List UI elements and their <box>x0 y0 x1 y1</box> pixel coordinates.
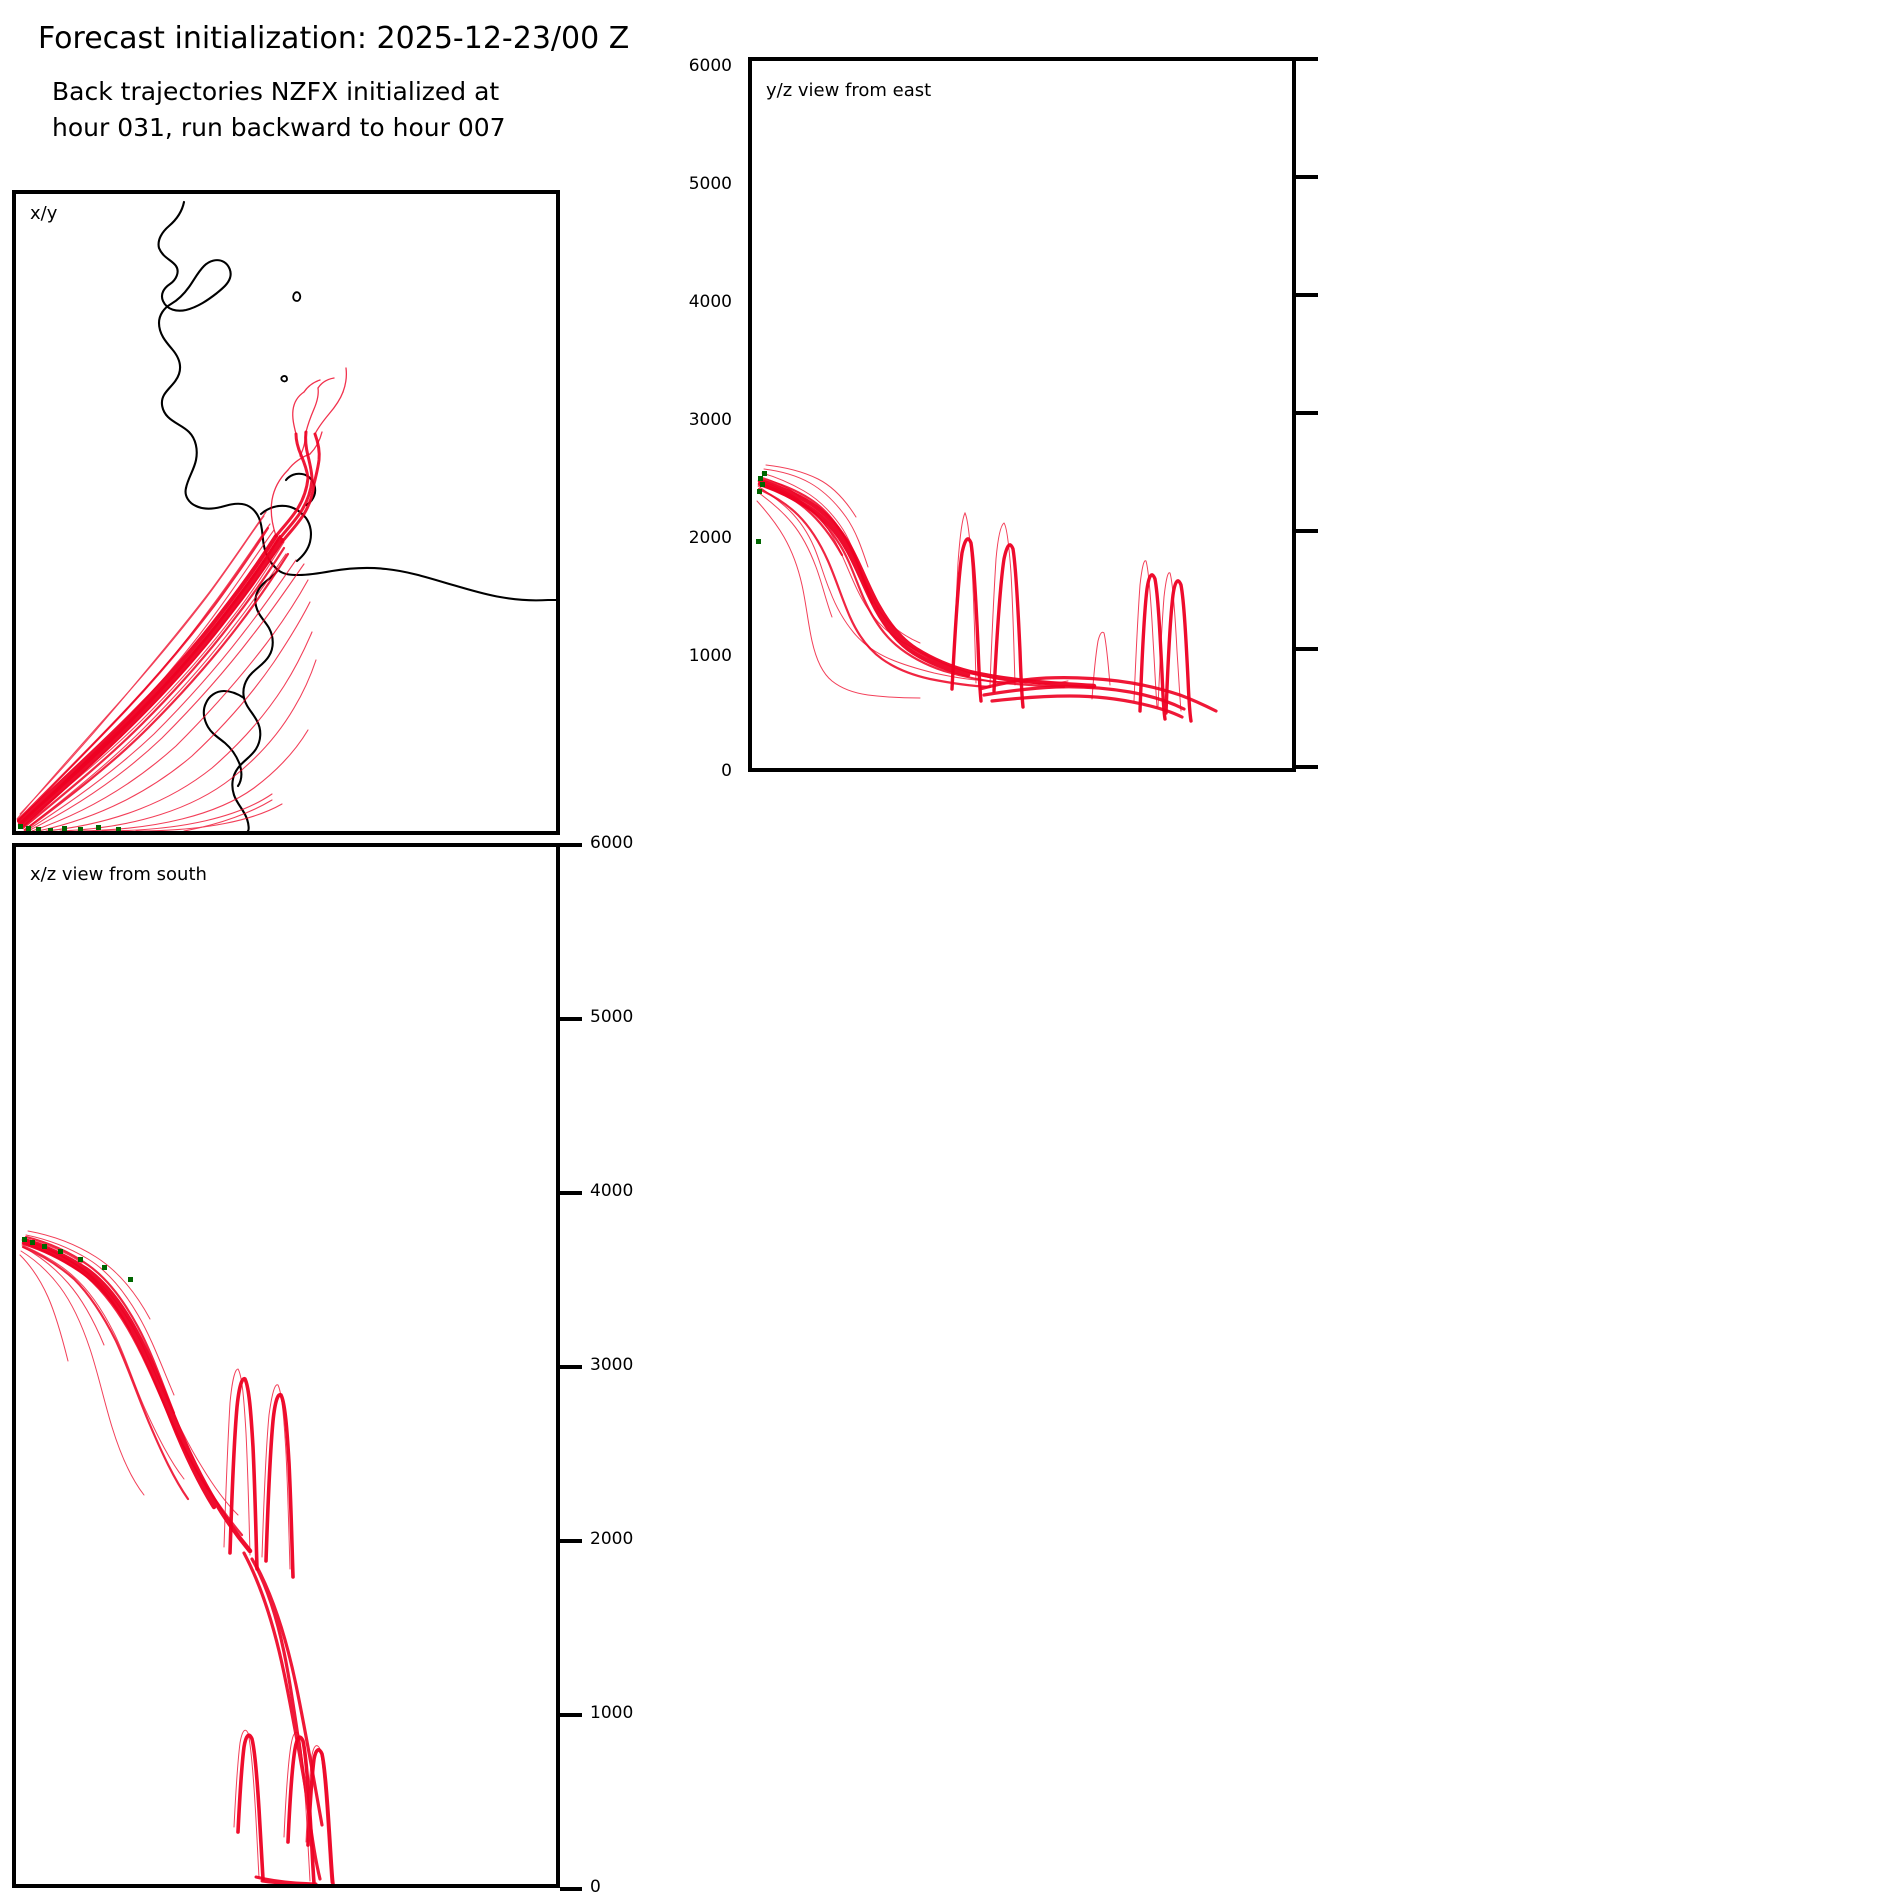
figure-root: Forecast initialization: 2025-12-23/00 Z… <box>0 0 1900 1900</box>
xz-tick-1000: 1000 <box>590 1705 633 1722</box>
panel-xz-label: x/z view from south <box>30 865 207 885</box>
yz-tickmark-6000 <box>1296 57 1318 61</box>
xz-axis: 6000 5000 4000 3000 2000 1000 0 <box>560 843 650 1888</box>
page-subtitle: Back trajectories NZFX initialized at ho… <box>52 74 506 146</box>
yz-tick-4000: 4000 <box>689 294 732 311</box>
yz-tickmark-1000 <box>1296 647 1318 651</box>
panel-xy-plot <box>16 194 556 831</box>
panel-yz[interactable]: y/z view from east <box>748 57 1296 772</box>
xz-tickmark-3000 <box>560 1365 582 1369</box>
yz-tick-2000: 2000 <box>689 530 732 547</box>
panel-yz-plot <box>752 61 1292 768</box>
xz-tickmark-5000 <box>560 1017 582 1021</box>
xz-tickmark-6000 <box>560 843 582 847</box>
yz-tickmark-0 <box>1296 765 1318 769</box>
yz-axis-labels: 6000 5000 4000 3000 2000 1000 0 <box>672 57 740 772</box>
xz-tick-0: 0 <box>590 1879 601 1896</box>
xz-tick-4000: 4000 <box>590 1183 633 1200</box>
panel-xz[interactable]: x/z view from south <box>12 843 560 1888</box>
xz-tickmark-1000 <box>560 1713 582 1717</box>
xz-tick-6000: 6000 <box>590 835 633 852</box>
yz-tick-0: 0 <box>721 763 732 780</box>
yz-tickmark-5000 <box>1296 175 1318 179</box>
yz-tick-6000: 6000 <box>689 58 732 75</box>
panel-xy-label: x/y <box>30 204 57 224</box>
yz-tickmark-3000 <box>1296 411 1318 415</box>
yz-tick-1000: 1000 <box>689 648 732 665</box>
panel-xy[interactable]: x/y <box>12 190 560 835</box>
panel-xz-plot <box>16 847 556 1884</box>
yz-tickmark-2000 <box>1296 529 1318 533</box>
xz-tick-2000: 2000 <box>590 1531 633 1548</box>
yz-tick-5000: 5000 <box>689 176 732 193</box>
xz-tickmark-2000 <box>560 1539 582 1543</box>
yz-tickmark-4000 <box>1296 293 1318 297</box>
page-title: Forecast initialization: 2025-12-23/00 Z <box>38 22 629 56</box>
yz-tick-3000: 3000 <box>689 412 732 429</box>
xz-tickmark-0 <box>560 1887 582 1891</box>
xz-tick-3000: 3000 <box>590 1357 633 1374</box>
panel-yz-label: y/z view from east <box>766 81 931 101</box>
yz-axis-ticks <box>1296 57 1386 772</box>
xz-tick-5000: 5000 <box>590 1009 633 1026</box>
xz-tickmark-4000 <box>560 1191 582 1195</box>
